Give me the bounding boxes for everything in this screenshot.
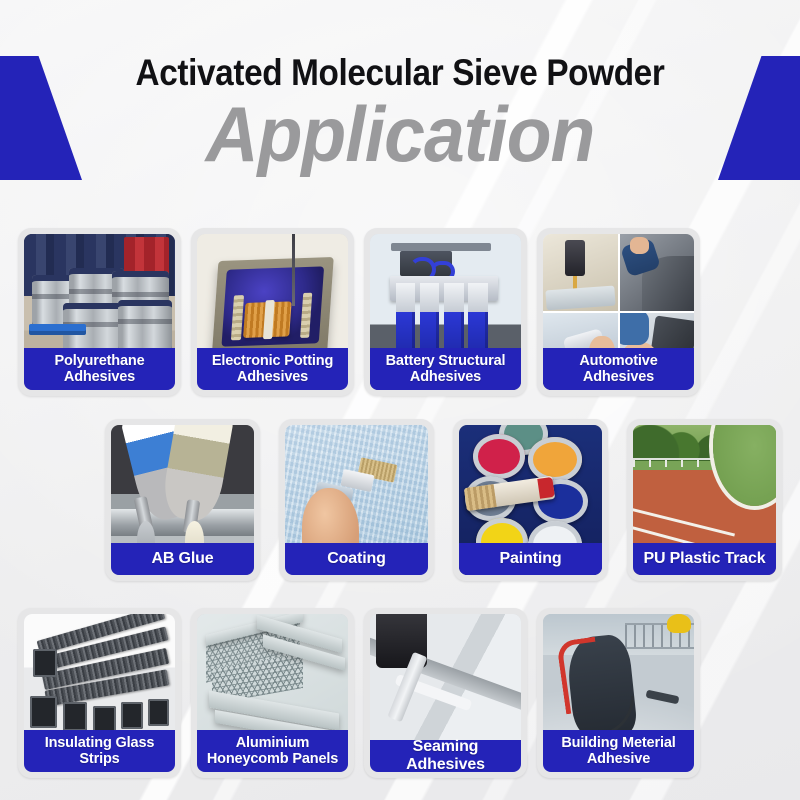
card-painting[interactable]: Painting: [453, 419, 608, 581]
card-label: Battery Structural Adhesives: [370, 348, 521, 390]
card-label: Insulating Glass Strips: [24, 730, 175, 772]
card-inner: Seaming Adhesives: [370, 614, 521, 772]
card-label: Coating: [285, 543, 428, 575]
card-seaming-adhesives[interactable]: Seaming Adhesives: [364, 608, 527, 778]
card-inner: Automotive Adhesives: [543, 234, 694, 390]
card-aluminium-honeycomb-panels[interactable]: Aluminium Honeycomb Panels: [191, 608, 354, 778]
card-inner: Painting: [459, 425, 602, 575]
card-inner: PU Plastic Track: [633, 425, 776, 575]
card-label: Polyurethane Adhesives: [24, 348, 175, 390]
card-label: Electronic Potting Adhesives: [197, 348, 348, 390]
card-building-meterial-adhesive[interactable]: Building Meterial Adhesive: [537, 608, 700, 778]
card-ab-glue[interactable]: AB Glue: [105, 419, 260, 581]
card-insulating-glass-strips[interactable]: Insulating Glass Strips: [18, 608, 181, 778]
card-inner: Insulating Glass Strips: [24, 614, 175, 772]
card-pu-plastic-track[interactable]: PU Plastic Track: [627, 419, 782, 581]
card-inner: Battery Structural Adhesives: [370, 234, 521, 390]
card-inner: Coating: [285, 425, 428, 575]
application-infographic: Activated Molecular Sieve Powder Applica…: [0, 0, 800, 800]
card-inner: Polyurethane Adhesives: [24, 234, 175, 390]
card-battery-structural-adhesives[interactable]: Battery Structural Adhesives: [364, 228, 527, 396]
card-label: Building Meterial Adhesive: [543, 730, 694, 772]
card-coating[interactable]: Coating: [279, 419, 434, 581]
card-label: Automotive Adhesives: [543, 348, 694, 390]
card-label: AB Glue: [111, 543, 254, 575]
card-electronic-potting-adhesives[interactable]: Electronic Potting Adhesives: [191, 228, 354, 396]
card-inner: Aluminium Honeycomb Panels: [197, 614, 348, 772]
page-title: Activated Molecular Sieve Powder: [40, 52, 760, 94]
card-polyurethane-adhesives[interactable]: Polyurethane Adhesives: [18, 228, 181, 396]
page-subtitle: Application: [24, 95, 776, 173]
card-label: Aluminium Honeycomb Panels: [197, 730, 348, 772]
card-inner: AB Glue: [111, 425, 254, 575]
poster-header: Activated Molecular Sieve Powder Applica…: [0, 0, 800, 205]
card-automotive-adhesives[interactable]: Automotive Adhesives: [537, 228, 700, 396]
card-label: Painting: [459, 543, 602, 575]
card-label: Seaming Adhesives: [370, 740, 521, 772]
card-inner: Electronic Potting Adhesives: [197, 234, 348, 390]
card-label: PU Plastic Track: [633, 543, 776, 575]
card-inner: Building Meterial Adhesive: [543, 614, 694, 772]
